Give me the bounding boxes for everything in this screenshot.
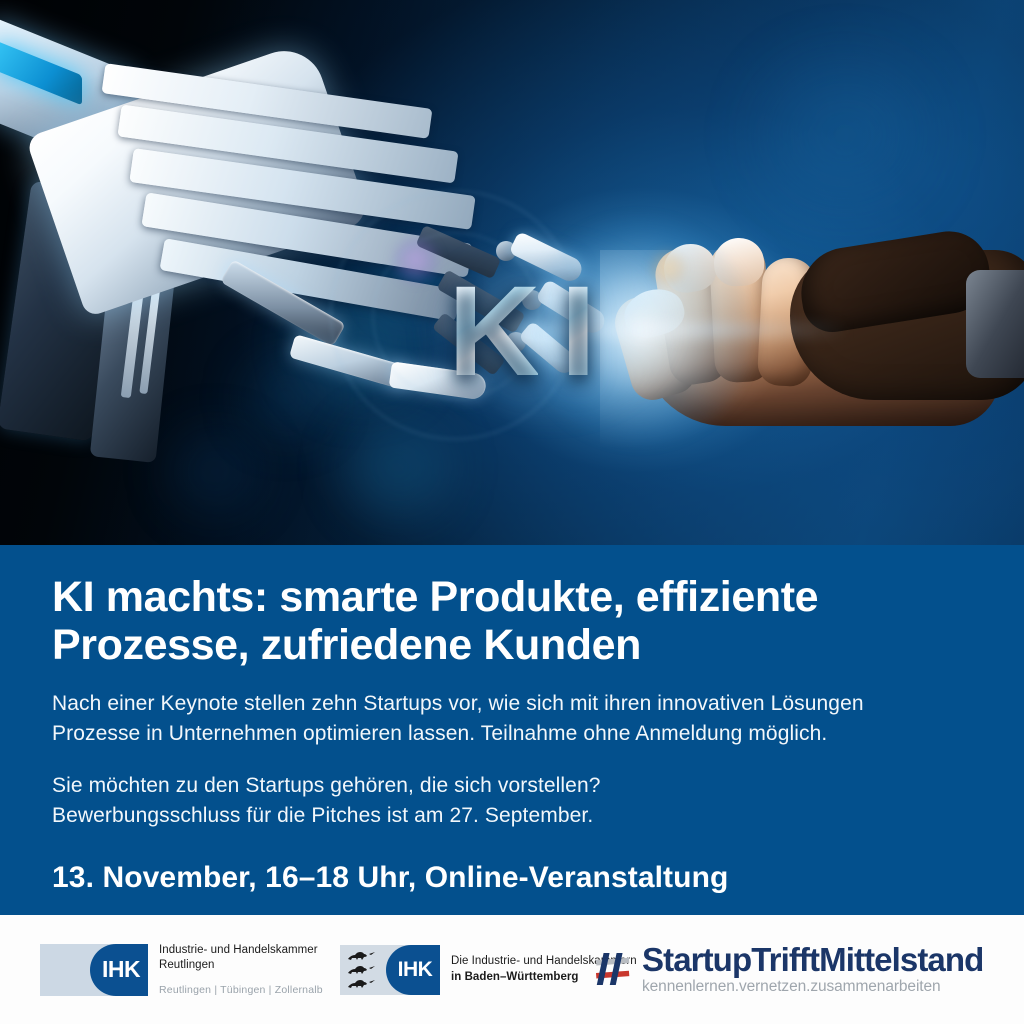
ihk-blue-block: IHK <box>386 945 440 995</box>
ihk-mark-icon: IHK <box>340 945 440 995</box>
lion-icon <box>347 951 377 963</box>
three-lions-icon <box>347 951 377 991</box>
lion-icon <box>347 979 377 991</box>
hashtag-icon <box>595 951 635 989</box>
stm-wordblock: StartupTrifftMittelstand kennenlernen.ve… <box>642 943 983 997</box>
page-title: KI machts: smarte Produkte, effiziente P… <box>52 573 932 669</box>
ihk-name-line-1: Industrie- und Handelskammer <box>159 943 323 958</box>
hero-image: K I <box>0 0 1024 545</box>
headline-line-2: Prozesse, zufriedene Kunden <box>52 621 932 669</box>
logo-ihk-reutlingen[interactable]: IHK Industrie- und Handelskammer Reutlin… <box>40 943 340 996</box>
ihk-wordmark: IHK <box>394 958 433 982</box>
stm-tagline: kennenlernen.vernetzen.zusammenarbeiten <box>642 978 983 996</box>
ihk-name-line-2: Reutlingen <box>159 958 323 973</box>
event-poster: K I KI machts: smarte Produkte, effizien… <box>0 0 1024 1024</box>
logo-ihk-baden-wuerttemberg[interactable]: IHK Die Industrie- und Handelskammern in… <box>340 945 595 995</box>
logo-footer: IHK Industrie- und Handelskammer Reutlin… <box>0 915 1024 1024</box>
ki-letter-i: I <box>560 268 594 396</box>
ihk-regions-line: Reutlingen | Tübingen | Zollernalb <box>159 984 323 996</box>
content-panel: KI machts: smarte Produkte, effiziente P… <box>0 545 1024 915</box>
stm-title: StartupTrifftMittelstand <box>642 943 983 977</box>
ki-letter-k: K <box>448 268 538 396</box>
stm-logo: StartupTrifftMittelstand kennenlernen.ve… <box>595 943 983 997</box>
paragraph-spacer <box>52 749 972 771</box>
logo-startup-trifft-mittelstand[interactable]: StartupTrifftMittelstand kennenlernen.ve… <box>595 943 984 997</box>
ki-wordmark: K I <box>448 268 594 396</box>
ihk-wordmark: IHK <box>98 956 140 983</box>
call-to-action-line: Sie möchten zu den Startups gehören, die… <box>52 771 972 801</box>
ihk-blue-block: IHK <box>90 944 148 996</box>
description-line: Prozesse in Unternehmen optimieren lasse… <box>52 719 972 749</box>
description-line: Nach einer Keynote stellen zehn Startups… <box>52 689 972 719</box>
event-date-line: 13. November, 16–18 Uhr, Online-Veransta… <box>52 861 972 895</box>
deadline-line: Bewerbungsschluss für die Pitches ist am… <box>52 801 972 831</box>
ihk-mark-icon: IHK <box>40 944 148 996</box>
human-wrist <box>966 270 1024 378</box>
ihk-reutlingen-text: Industrie- und Handelskammer Reutlingen … <box>159 943 323 996</box>
lion-icon <box>347 965 377 977</box>
description-block: Nach einer Keynote stellen zehn Startups… <box>52 689 972 830</box>
headline-line-1: KI machts: smarte Produkte, effiziente <box>52 573 932 621</box>
